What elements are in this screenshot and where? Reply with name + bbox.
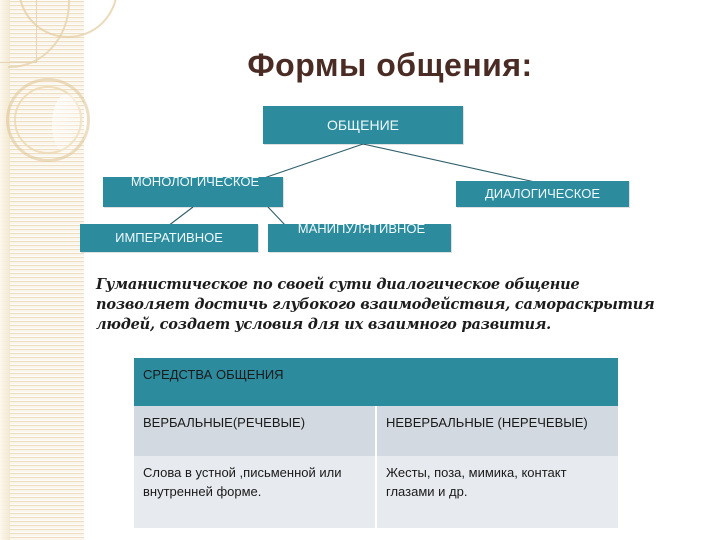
cell-verbal-detail: Слова в устной ,письменной или внутренне… <box>134 456 376 528</box>
slide-canvas: Формы общения: ОБЩЕНИЕ МОНОЛОГИЧЕСКОЕ ДИ… <box>0 0 720 540</box>
table-body: ВЕРБАЛЬНЫЕ(РЕЧЕВЫЕ) НЕВЕРБАЛЬНЫЕ (НЕРЕЧЕ… <box>134 406 618 528</box>
node-dialogicheskoe-label: ДИАЛОГИЧЕСКОЕ <box>460 186 625 202</box>
table-row: Слова в устной ,письменной или внутренне… <box>134 456 618 528</box>
means-of-communication-table: СРЕДСТВА ОБЩЕНИЯ ВЕРБАЛЬНЫЕ(РЕЧЕВЫЕ) НЕВ… <box>134 358 618 528</box>
node-monologicheskoe[interactable]: МОНОЛОГИЧЕСКОЕ <box>103 177 283 207</box>
table-row: ВЕРБАЛЬНЫЕ(РЕЧЕВЫЕ) НЕВЕРБАЛЬНЫЕ (НЕРЕЧЕ… <box>134 406 618 456</box>
table-title-cell: СРЕДСТВА ОБЩЕНИЯ <box>134 358 618 406</box>
cell-nonverbal-detail: Жесты, поза, мимика, контакт глазами и д… <box>376 456 618 528</box>
node-imperativnoe[interactable]: ИМПЕРАТИВНОЕ <box>80 224 258 252</box>
hierarchy-diagram: ОБЩЕНИЕ МОНОЛОГИЧЕСКОЕ ДИАЛОГИЧЕСКОЕ ИМП… <box>0 0 720 270</box>
node-obshchenie[interactable]: ОБЩЕНИЕ <box>263 106 463 144</box>
table-head: СРЕДСТВА ОБЩЕНИЯ <box>134 358 618 406</box>
node-manipulyativnoe[interactable]: МАНИПУЛЯТИВНОЕ <box>268 224 451 252</box>
node-dialogicheskoe[interactable]: ДИАЛОГИЧЕСКОЕ <box>456 181 629 207</box>
body-paragraph: Гуманистическое по своей сути диалогичес… <box>96 275 666 335</box>
table-header-row: СРЕДСТВА ОБЩЕНИЯ <box>134 358 618 406</box>
cell-nonverbal-heading: НЕВЕРБАЛЬНЫЕ (НЕРЕЧЕВЫЕ) <box>376 406 618 456</box>
node-imperativnoe-label: ИМПЕРАТИВНОЕ <box>84 230 254 246</box>
node-obshchenie-label: ОБЩЕНИЕ <box>267 117 459 133</box>
node-manipulyativnoe-label: МАНИПУЛЯТИВНОЕ <box>270 221 453 237</box>
cell-verbal-heading: ВЕРБАЛЬНЫЕ(РЕЧЕВЫЕ) <box>134 406 376 456</box>
node-monologicheskoe-label: МОНОЛОГИЧЕСКОЕ <box>105 174 285 190</box>
